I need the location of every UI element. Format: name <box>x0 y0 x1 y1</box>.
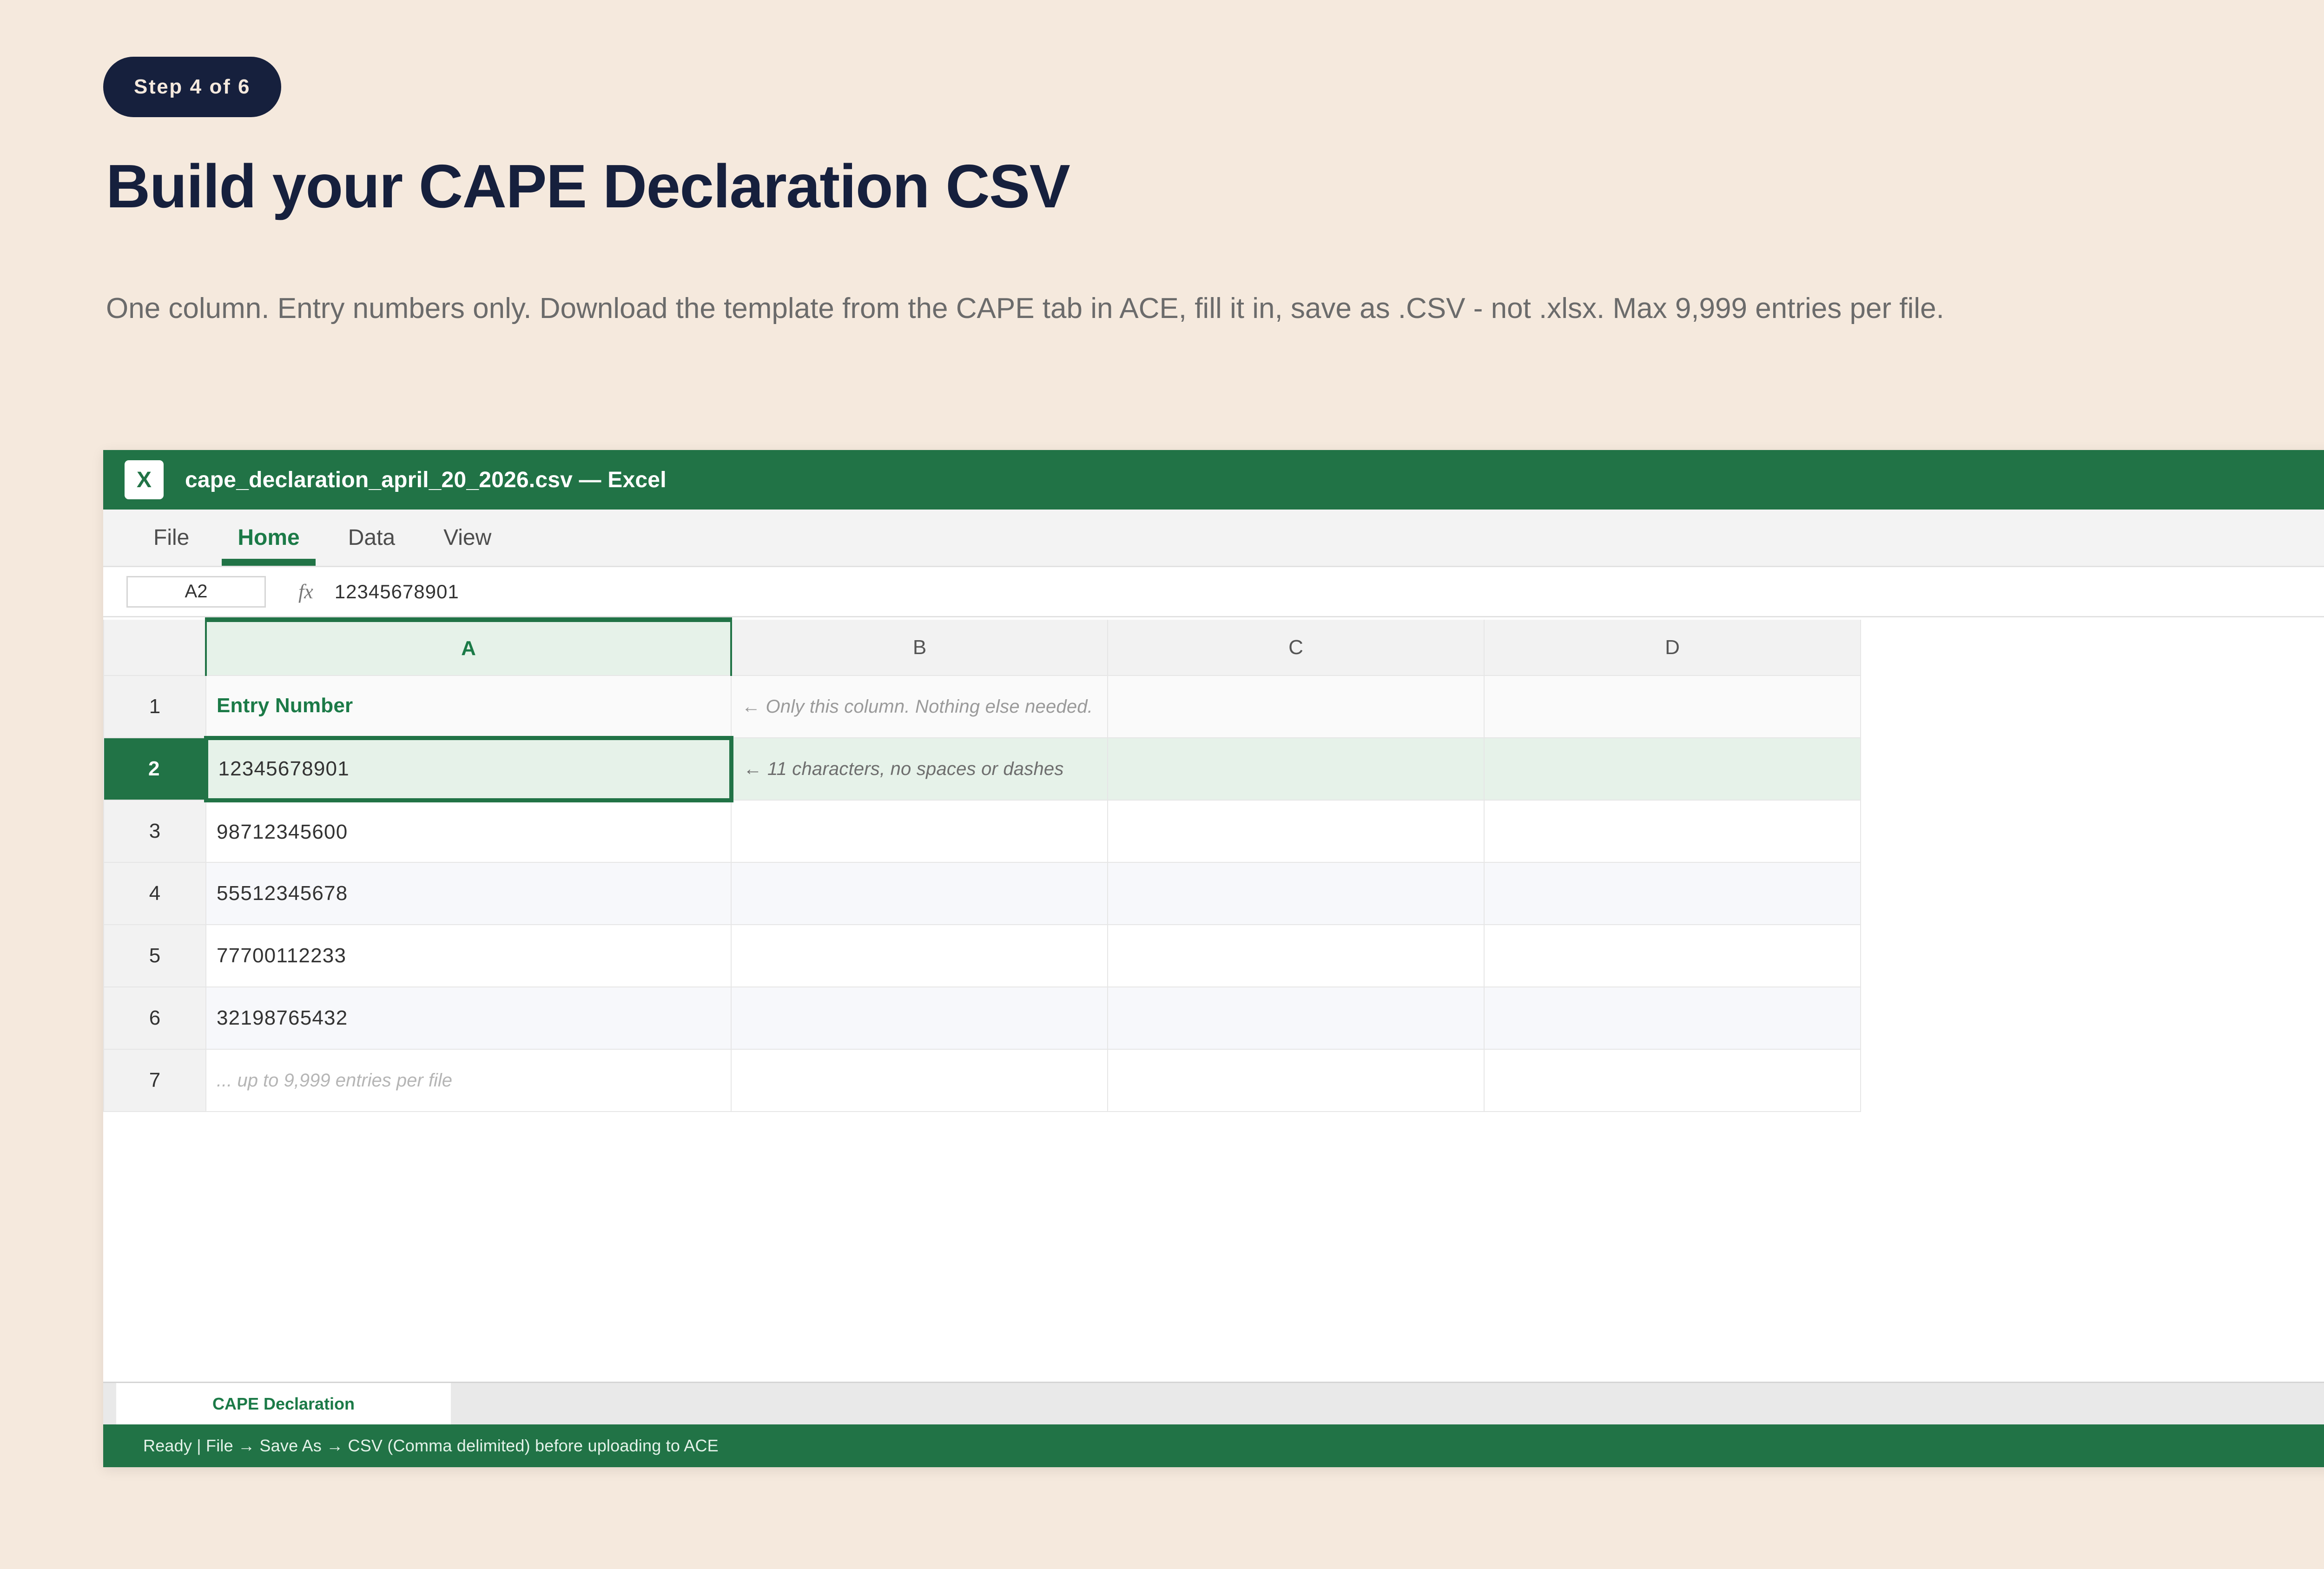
table-row: 4 55512345678 <box>104 862 1861 925</box>
column-header-a[interactable]: A <box>206 620 731 675</box>
select-all-corner[interactable] <box>104 620 206 675</box>
table-row: 2 12345678901 ← 11 characters, no spaces… <box>104 738 1861 800</box>
row-header-4[interactable]: 4 <box>104 862 206 925</box>
name-box[interactable]: A2 <box>126 576 266 608</box>
cell-b5[interactable] <box>731 925 1108 987</box>
spreadsheet-grid-area: A B C D 1 Entry Number ← Only this colum… <box>103 617 2324 1382</box>
cell-a4[interactable]: 55512345678 <box>206 862 731 925</box>
cell-a5[interactable]: 77700112233 <box>206 925 731 987</box>
page-title: Build your CAPE Declaration CSV <box>106 153 1070 220</box>
cell-c4[interactable] <box>1108 862 1484 925</box>
cell-c5[interactable] <box>1108 925 1484 987</box>
row-header-7[interactable]: 7 <box>104 1049 206 1112</box>
column-header-c[interactable]: C <box>1108 620 1484 675</box>
formula-input[interactable]: 12345678901 <box>335 581 459 603</box>
cell-c6[interactable] <box>1108 987 1484 1049</box>
cell-d6[interactable] <box>1484 987 1861 1049</box>
excel-titlebar: X cape_declaration_april_20_2026.csv — E… <box>103 450 2324 510</box>
cell-b4[interactable] <box>731 862 1108 925</box>
row-header-6[interactable]: 6 <box>104 987 206 1049</box>
cell-d7[interactable] <box>1484 1049 1861 1112</box>
sheet-tab-strip: CAPE Declaration <box>103 1382 2324 1424</box>
row-header-3[interactable]: 3 <box>104 800 206 862</box>
column-header-b[interactable]: B <box>731 620 1108 675</box>
slide-root: C ” Step 4 of 6 Build your CAPE Declarat… <box>0 0 2324 1569</box>
cell-d1[interactable] <box>1484 675 1861 738</box>
cell-c7[interactable] <box>1108 1049 1484 1112</box>
cell-c3[interactable] <box>1108 800 1484 862</box>
step-badge: Step 4 of 6 <box>103 57 281 117</box>
sheet-tab-cape-declaration[interactable]: CAPE Declaration <box>116 1383 451 1424</box>
cell-d5[interactable] <box>1484 925 1861 987</box>
cell-b3[interactable] <box>731 800 1108 862</box>
cell-c2[interactable] <box>1108 738 1484 800</box>
cell-d3[interactable] <box>1484 800 1861 862</box>
ribbon-tab-home[interactable]: Home <box>213 510 324 566</box>
row-header-1[interactable]: 1 <box>104 675 206 738</box>
table-row: 7 ... up to 9,999 entries per file <box>104 1049 1861 1112</box>
cell-d2[interactable] <box>1484 738 1861 800</box>
excel-window: X cape_declaration_april_20_2026.csv — E… <box>103 450 2324 1467</box>
cell-d4[interactable] <box>1484 862 1861 925</box>
cell-a3[interactable]: 98712345600 <box>206 800 731 862</box>
row-header-5[interactable]: 5 <box>104 925 206 987</box>
ribbon-tab-view[interactable]: View <box>419 510 515 566</box>
ribbon-tab-file[interactable]: File <box>129 510 213 566</box>
table-row: 6 32198765432 <box>104 987 1861 1049</box>
row-header-2[interactable]: 2 <box>104 738 206 800</box>
column-header-d[interactable]: D <box>1484 620 1861 675</box>
ribbon-tab-data[interactable]: Data <box>324 510 419 566</box>
cell-a6[interactable]: 32198765432 <box>206 987 731 1049</box>
cell-b7[interactable] <box>731 1049 1108 1112</box>
cell-b1-note[interactable]: ← Only this column. Nothing else needed. <box>731 675 1108 738</box>
cell-b6[interactable] <box>731 987 1108 1049</box>
excel-window-title: cape_declaration_april_20_2026.csv — Exc… <box>185 467 667 493</box>
cell-c1[interactable] <box>1108 675 1484 738</box>
cell-a7-placeholder[interactable]: ... up to 9,999 entries per file <box>206 1049 731 1112</box>
spreadsheet-grid: A B C D 1 Entry Number ← Only this colum… <box>103 617 1861 1112</box>
fx-icon: fx <box>298 580 313 603</box>
excel-formula-bar: A2 fx 12345678901 <box>103 567 2324 617</box>
cell-a2[interactable]: 12345678901 <box>206 738 731 800</box>
page-subtitle: One column. Entry numbers only. Download… <box>106 288 2324 329</box>
table-row: 5 77700112233 <box>104 925 1861 987</box>
table-row: 3 98712345600 <box>104 800 1861 862</box>
table-row: 1 Entry Number ← Only this column. Nothi… <box>104 675 1861 738</box>
excel-app-icon: X <box>125 460 164 499</box>
excel-ribbon: File Home Data View <box>103 510 2324 567</box>
cell-b2-note[interactable]: ← 11 characters, no spaces or dashes <box>731 738 1108 800</box>
cell-a1[interactable]: Entry Number <box>206 675 731 738</box>
excel-status-bar: Ready | File → Save As → CSV (Comma deli… <box>103 1424 2324 1467</box>
column-header-row: A B C D <box>104 620 1861 675</box>
